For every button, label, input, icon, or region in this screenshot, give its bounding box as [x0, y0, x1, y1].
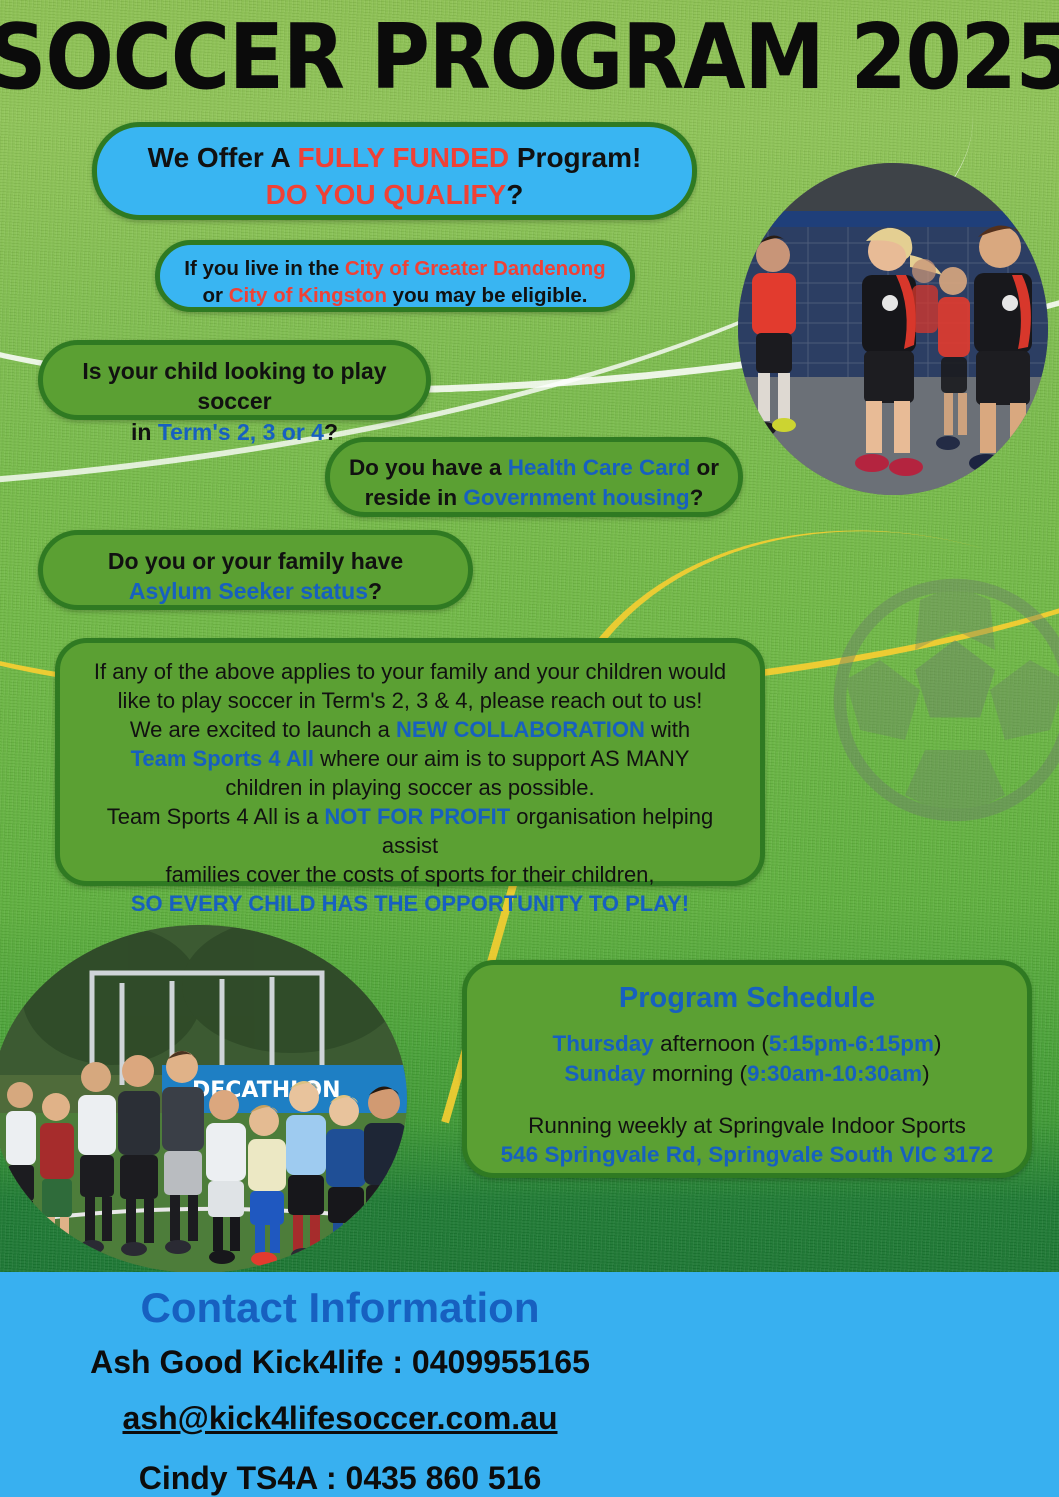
- text-segment: in: [131, 419, 158, 445]
- paragraph-line: Team Sports 4 All is a NOT FOR PROFIT or…: [78, 802, 742, 860]
- bubble-line: Do you or your family have: [43, 546, 468, 576]
- program-schedule-box: Program Schedule Thursday afternoon (5:1…: [462, 960, 1032, 1178]
- text-segment: or: [690, 455, 719, 480]
- bubble-asylum-question: Do you or your family have Asylum Seeker…: [38, 530, 473, 610]
- bubble-healthcare-question: Do you have a Health Care Card or reside…: [325, 437, 743, 517]
- bubble-line: Is your child looking to play soccer: [43, 356, 426, 417]
- contact-email[interactable]: ash@kick4lifesoccer.com.au: [0, 1400, 680, 1437]
- text-highlight-blue: Health Care Card: [508, 455, 691, 480]
- schedule-title: Program Schedule: [467, 979, 1027, 1017]
- text-segment: We Offer A: [148, 142, 298, 173]
- text-segment: ): [922, 1061, 930, 1086]
- bubble-line: DO YOU QUALIFY?: [97, 177, 692, 214]
- text-segment: where our aim is to support AS MANY: [314, 746, 689, 771]
- paragraph-line: If any of the above applies to your fami…: [78, 657, 742, 686]
- text-highlight-blue: 5:15pm-6:15pm: [769, 1031, 934, 1056]
- schedule-address: 546 Springvale Rd, Springvale South VIC …: [467, 1140, 1027, 1170]
- paragraph-line: like to play soccer in Term's 2, 3 & 4, …: [78, 686, 742, 715]
- text-segment: ?: [690, 485, 704, 510]
- text-highlight-blue: Sunday: [564, 1061, 645, 1086]
- text-highlight-blue: 9:30am-10:30am: [747, 1061, 922, 1086]
- spacer: [467, 1089, 1027, 1111]
- paragraph-line-emphasis: SO EVERY CHILD HAS THE OPPORTUNITY TO PL…: [78, 889, 742, 918]
- photo-kids-playing: [738, 163, 1048, 495]
- photo-team-group: DECATHLON: [0, 925, 407, 1273]
- text-segment: ?: [506, 179, 523, 210]
- text-highlight-blue: Government housing: [463, 485, 689, 510]
- text-segment: If you live in the: [184, 257, 345, 280]
- text-segment: ?: [324, 419, 338, 445]
- text-segment: reside in: [365, 485, 464, 510]
- text-segment: or: [202, 284, 228, 307]
- schedule-sunday: Sunday morning (9:30am-10:30am): [467, 1059, 1027, 1089]
- poster-root: SOCCER PROGRAM 2025 We Offer A FULLY FUN…: [0, 0, 1059, 1497]
- text-segment: Team Sports 4 All is a: [107, 804, 325, 829]
- text-highlight-blue: NOT FOR PROFIT: [324, 804, 510, 829]
- bubble-line: We Offer A FULLY FUNDED Program!: [97, 140, 692, 177]
- schedule-thursday: Thursday afternoon (5:15pm-6:15pm): [467, 1029, 1027, 1059]
- text-highlight-blue: Term's 2, 3 or 4: [158, 419, 324, 445]
- text-highlight-red: DO YOU QUALIFY: [266, 179, 507, 210]
- text-segment: We are excited to launch a: [130, 717, 396, 742]
- bubble-main-description: If any of the above applies to your fami…: [55, 638, 765, 886]
- page-title: SOCCER PROGRAM 2025: [0, 4, 1059, 109]
- contact-title: Contact Information: [0, 1284, 680, 1332]
- text-segment: Do you have a: [349, 455, 508, 480]
- paragraph-line: Team Sports 4 All where our aim is to su…: [78, 744, 742, 773]
- paragraph-line: children in playing soccer as possible.: [78, 773, 742, 802]
- text-segment: ): [934, 1031, 942, 1056]
- paragraph-line: families cover the costs of sports for t…: [78, 860, 742, 889]
- bubble-council-eligibility: If you live in the City of Greater Dande…: [155, 240, 635, 312]
- soccer-ball-watermark: [830, 575, 1059, 825]
- contact-phone-ash: Ash Good Kick4life : 0409955165: [0, 1344, 680, 1381]
- text-segment: Program!: [509, 142, 641, 173]
- paragraph-line: We are excited to launch a NEW COLLABORA…: [78, 715, 742, 744]
- text-segment: ?: [368, 578, 382, 604]
- text-highlight-blue: Asylum Seeker status: [129, 578, 368, 604]
- text-highlight-red: City of Kingston: [229, 284, 387, 307]
- text-segment: with: [645, 717, 690, 742]
- text-highlight-blue: Team Sports 4 All: [131, 746, 314, 771]
- text-highlight-red: City of Greater Dandenong: [345, 257, 606, 280]
- bubble-line: Do you have a Health Care Card or: [330, 453, 738, 483]
- bubble-fully-funded: We Offer A FULLY FUNDED Program! DO YOU …: [92, 122, 697, 220]
- text-segment: you may be eligible.: [387, 284, 588, 307]
- text-segment: afternoon (: [654, 1031, 769, 1056]
- text-highlight-red: FULLY FUNDED: [298, 142, 510, 173]
- footer-contact-band: Contact Information Ash Good Kick4life :…: [0, 1272, 1059, 1497]
- schedule-venue: Running weekly at Springvale Indoor Spor…: [467, 1111, 1027, 1141]
- bubble-line: reside in Government housing?: [330, 483, 738, 513]
- text-highlight-blue: NEW COLLABORATION: [396, 717, 645, 742]
- text-highlight-blue: Thursday: [553, 1031, 654, 1056]
- contact-phone-cindy: Cindy TS4A : 0435 860 516: [0, 1460, 680, 1497]
- bubble-term-question: Is your child looking to play soccer in …: [38, 340, 431, 420]
- bubble-line: or City of Kingston you may be eligible.: [160, 282, 630, 309]
- bubble-line: Asylum Seeker status?: [43, 576, 468, 606]
- text-segment: morning (: [646, 1061, 747, 1086]
- bubble-line: If you live in the City of Greater Dande…: [160, 255, 630, 282]
